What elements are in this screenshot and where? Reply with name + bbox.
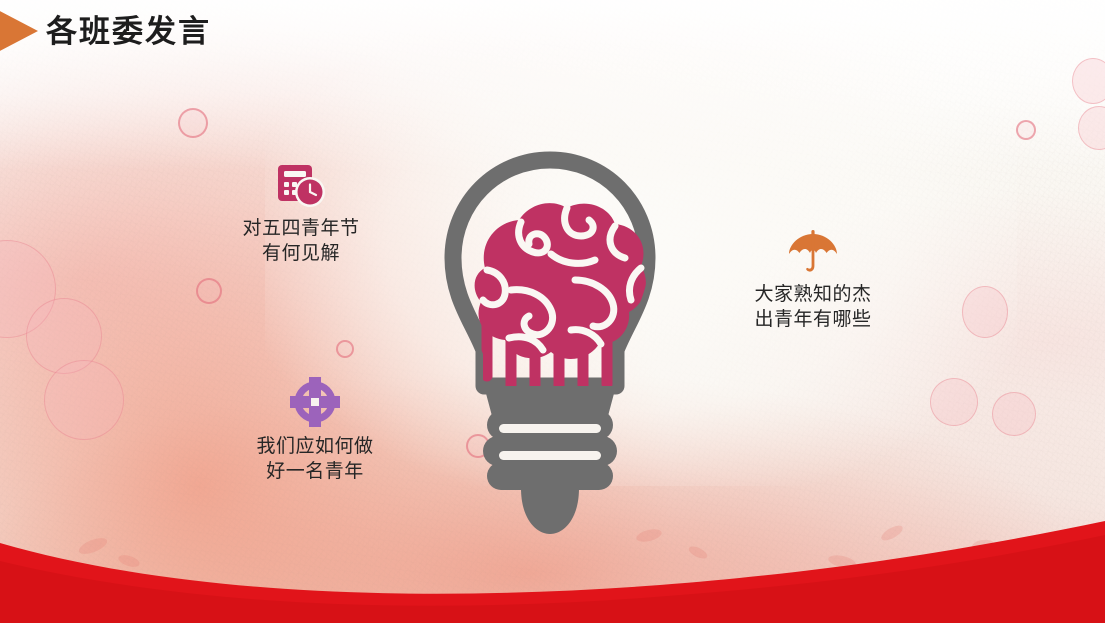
slide-header: 各班委发言 [0,0,211,62]
triangle-right-icon [0,0,40,62]
topic-label: 大家熟知的杰 出青年有哪些 [754,282,871,332]
slide-canvas: 各班委发言 [0,0,1105,623]
topic-item-umbrella[interactable]: 大家熟知的杰 出青年有哪些 [718,228,908,332]
crosshair-target-icon [289,380,341,428]
topic-label: 我们应如何做 好一名青年 [256,434,373,484]
topic-label: 对五四青年节 有何见解 [242,216,359,266]
page-title: 各班委发言 [46,16,211,47]
lightbulb-brain-graphic [425,148,675,543]
topic-item-calendar[interactable]: 对五四青年节 有何见解 [206,162,396,266]
calendar-clock-icon [275,162,327,210]
topic-item-crosshair[interactable]: 我们应如何做 好一名青年 [220,380,410,484]
umbrella-icon [786,228,840,276]
